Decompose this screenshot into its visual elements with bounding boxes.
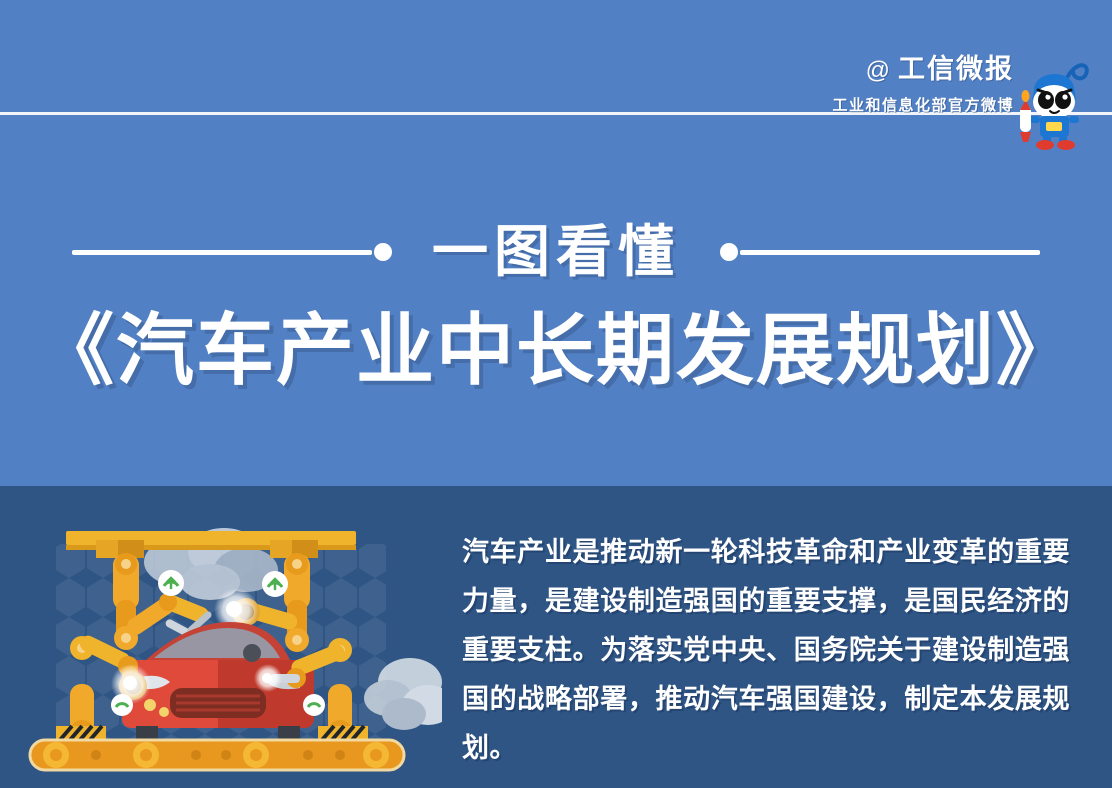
page-title: 《汽车产业中长期发展规划》 <box>0 298 1112 402</box>
brand-subtitle: 工业和信息化部官方微博 <box>832 96 1014 116</box>
rule-line-left <box>72 243 394 261</box>
brand-handle: @工信微报 <box>832 52 1014 88</box>
automotive-assembly-line-illustration <box>18 500 442 788</box>
eyebrow-row: 一图看懂 <box>0 212 1112 292</box>
brand-text-group: @工信微报 工业和信息化部官方微博 <box>832 52 1014 116</box>
gongxin-mascot-icon <box>1016 54 1094 150</box>
eyebrow-text: 一图看懂 <box>394 220 718 284</box>
infographic-poster: @工信微报 工业和信息化部官方微博 <box>0 0 1112 788</box>
rule-line-left-bar <box>72 250 372 255</box>
body-paragraph: 汽车产业是推动新一轮科技革命和产业变革的重要力量，是建设制造强国的重要支撑，是国… <box>462 528 1070 773</box>
rule-line-right-bar <box>740 250 1040 255</box>
conveyor-belt <box>30 740 404 770</box>
rule-dot-left <box>374 243 392 261</box>
brand-handle-text: 工信微报 <box>898 54 1014 84</box>
at-symbol-icon: @ <box>866 57 892 84</box>
rule-dot-right <box>720 243 738 261</box>
rule-line-right <box>718 243 1040 261</box>
brand-block: @工信微报 工业和信息化部官方微博 <box>800 52 1100 152</box>
